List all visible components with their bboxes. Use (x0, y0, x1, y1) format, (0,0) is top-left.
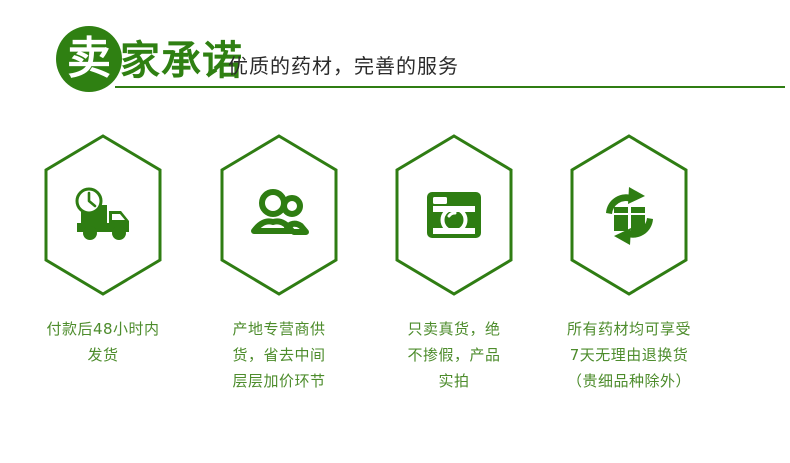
camera-icon (418, 179, 490, 251)
feature-item-return: 所有药材均可享受 7天无理由退换货 （贵细品种除外） (540, 130, 718, 394)
users-group-icon (243, 179, 315, 251)
hexagon-frame-delivery (14, 130, 192, 300)
feature-item-authentic: 只卖真货，绝 不掺假，产品 实拍 (365, 130, 543, 394)
feature-caption-supplier: 产地专营商供 货，省去中间 层层加价环节 (190, 316, 368, 394)
page-header: 卖 家承诺 优质的药材，完善的服务 (0, 0, 790, 110)
feature-caption-return: 所有药材均可享受 7天无理由退换货 （贵细品种除外） (540, 316, 718, 394)
page-title: 家承诺 (120, 38, 243, 84)
feature-caption-delivery: 付款后48小时内 发货 (14, 316, 192, 368)
feature-list: 付款后48小时内 发货 (0, 130, 790, 450)
hexagon-frame-authentic (365, 130, 543, 300)
delivery-truck-clock-icon (67, 179, 139, 251)
hexagon-frame-supplier (190, 130, 368, 300)
feature-caption-authentic: 只卖真货，绝 不掺假，产品 实拍 (365, 316, 543, 394)
header-divider-rule (115, 86, 785, 88)
brand-badge-circle: 卖 (56, 26, 122, 92)
feature-item-supplier: 产地专营商供 货，省去中间 层层加价环节 (190, 130, 368, 394)
hexagon-frame-return (540, 130, 718, 300)
page-subtitle: 优质的药材，完善的服务 (228, 52, 459, 80)
feature-item-delivery: 付款后48小时内 发货 (14, 130, 192, 368)
return-exchange-arrows-icon (593, 179, 665, 251)
